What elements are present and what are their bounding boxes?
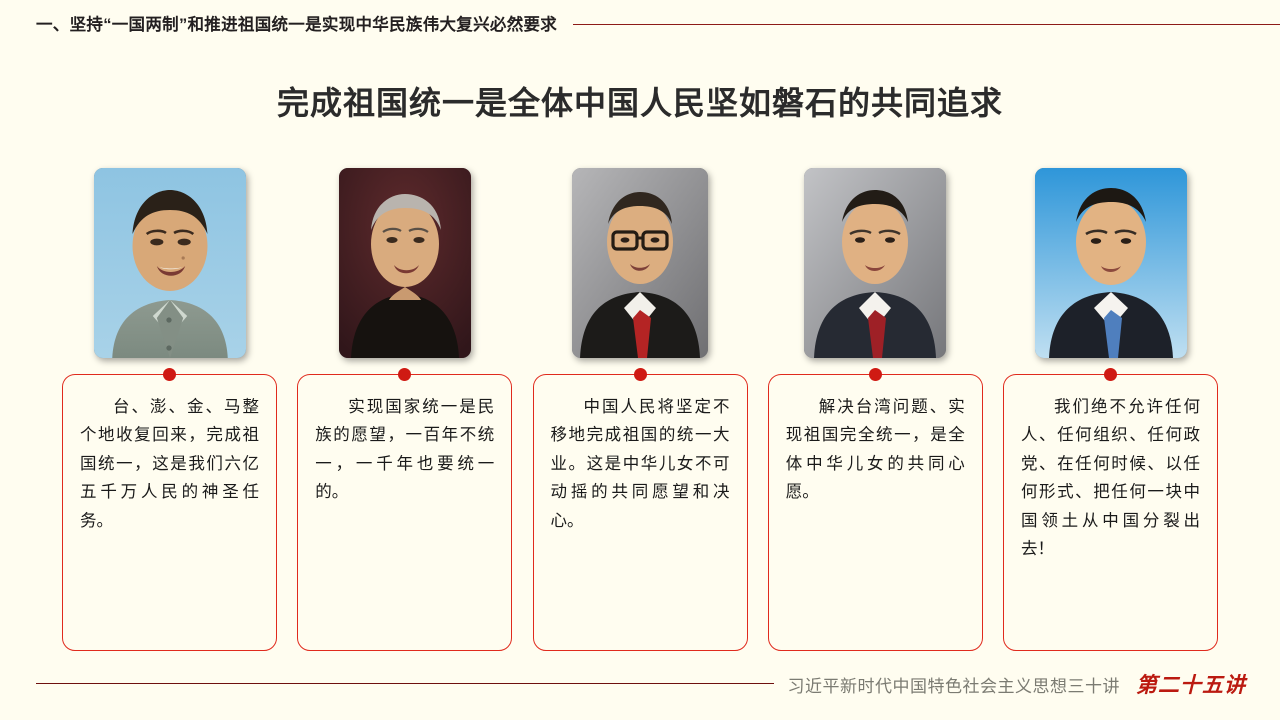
connector-dot-icon — [1104, 368, 1117, 381]
quote-card: 实现国家统一是民族的愿望，一百年不统一，一千年也要统一的。 — [297, 374, 512, 651]
portrait-frame — [804, 168, 946, 358]
portrait-mao-zedong — [94, 168, 246, 358]
footer-divider-line — [36, 683, 774, 684]
portrait-xi-jinping — [1035, 168, 1187, 358]
footer-series-title: 习近平新时代中国特色社会主义思想三十讲 — [788, 672, 1121, 697]
portrait-frame — [94, 168, 246, 358]
portrait-frame — [339, 168, 471, 358]
footer-lecture-label: 第二十五讲 — [1136, 669, 1246, 699]
section-title: 一、坚持“一国两制”和推进祖国统一是实现中华民族伟大复兴必然要求 — [36, 11, 557, 35]
page-title: 完成祖国统一是全体中国人民坚如磐石的共同追求 — [0, 78, 1280, 124]
quote-card: 解决台湾问题、实现祖国完全统一，是全体中华儿女的共同心愿。 — [768, 374, 983, 651]
quote-card: 中国人民将坚定不移地完成祖国的统一大业。这是中华儿女不可动摇的共同愿望和决心。 — [533, 374, 748, 651]
portrait-frame — [572, 168, 708, 358]
leader-column: 解决台湾问题、实现祖国完全统一，是全体中华儿女的共同心愿。 — [768, 168, 983, 651]
quote-card-block: 我们绝不允许任何人、任何组织、任何政党、在任何时候、以任何形式、把任何一块中国领… — [1003, 374, 1218, 651]
portrait-frame — [1035, 168, 1187, 358]
leader-column: 我们绝不允许任何人、任何组织、任何政党、在任何时候、以任何形式、把任何一块中国领… — [1003, 168, 1218, 651]
quote-text: 台、澎、金、马整个地收复回来，完成祖国统一，这是我们六亿五千万人民的神圣任务。 — [80, 393, 259, 535]
connector-dot-icon — [634, 368, 647, 381]
connector-dot-icon — [869, 368, 882, 381]
portrait-deng-xiaoping — [339, 168, 471, 358]
quote-card: 台、澎、金、马整个地收复回来，完成祖国统一，这是我们六亿五千万人民的神圣任务。 — [62, 374, 277, 651]
leader-column: 中国人民将坚定不移地完成祖国的统一大业。这是中华儿女不可动摇的共同愿望和决心。 — [533, 168, 748, 651]
quote-text: 解决台湾问题、实现祖国完全统一，是全体中华儿女的共同心愿。 — [786, 393, 965, 507]
leader-quote-grid: 台、澎、金、马整个地收复回来，完成祖国统一，这是我们六亿五千万人民的神圣任务。 — [62, 168, 1218, 651]
leader-column: 台、澎、金、马整个地收复回来，完成祖国统一，这是我们六亿五千万人民的神圣任务。 — [62, 168, 277, 651]
quote-card-block: 实现国家统一是民族的愿望，一百年不统一，一千年也要统一的。 — [297, 374, 512, 651]
quote-text: 我们绝不允许任何人、任何组织、任何政党、在任何时候、以任何形式、把任何一块中国领… — [1021, 393, 1200, 563]
portrait-hu-jintao — [804, 168, 946, 358]
quote-card-block: 解决台湾问题、实现祖国完全统一，是全体中华儿女的共同心愿。 — [768, 374, 983, 651]
leader-column: 实现国家统一是民族的愿望，一百年不统一，一千年也要统一的。 — [297, 168, 512, 651]
quote-card: 我们绝不允许任何人、任何组织、任何政党、在任何时候、以任何形式、把任何一块中国领… — [1003, 374, 1218, 651]
quote-text: 中国人民将坚定不移地完成祖国的统一大业。这是中华儿女不可动摇的共同愿望和决心。 — [551, 393, 730, 535]
quote-text: 实现国家统一是民族的愿望，一百年不统一，一千年也要统一的。 — [315, 393, 494, 507]
slide-header: 一、坚持“一国两制”和推进祖国统一是实现中华民族伟大复兴必然要求 — [0, 0, 1280, 46]
slide-footer: 习近平新时代中国特色社会主义思想三十讲 第二十五讲 — [0, 664, 1280, 704]
quote-card-block: 台、澎、金、马整个地收复回来，完成祖国统一，这是我们六亿五千万人民的神圣任务。 — [62, 374, 277, 651]
header-divider-line — [573, 24, 1280, 25]
quote-card-block: 中国人民将坚定不移地完成祖国的统一大业。这是中华儿女不可动摇的共同愿望和决心。 — [533, 374, 748, 651]
connector-dot-icon — [163, 368, 176, 381]
portrait-jiang-zemin — [572, 168, 708, 358]
